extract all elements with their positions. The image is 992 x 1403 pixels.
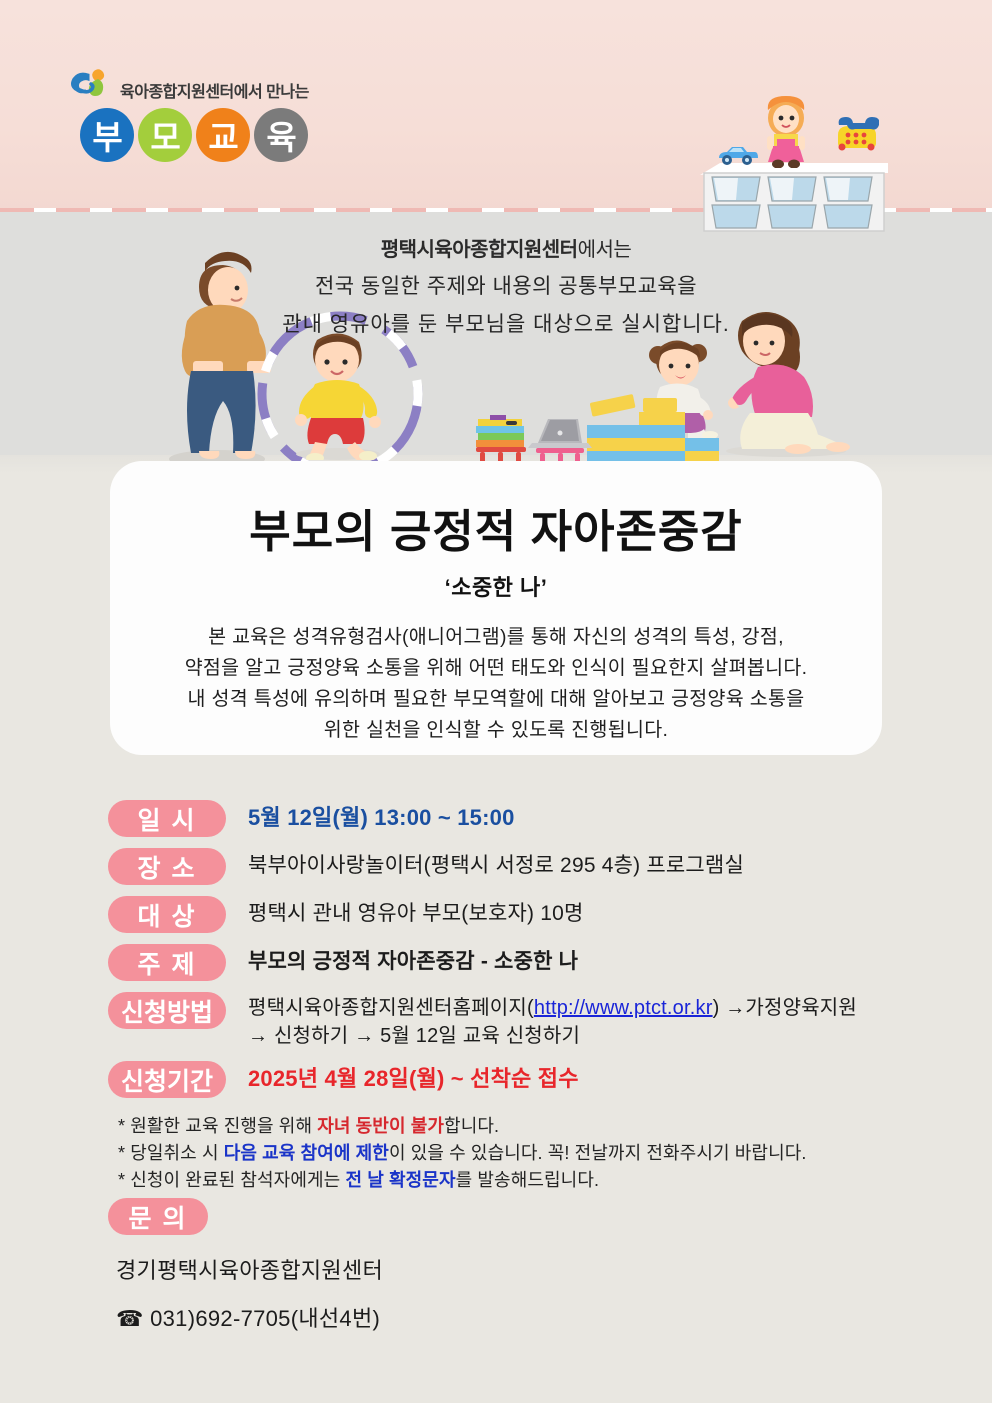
- homepage-link[interactable]: http://www.ptct.or.kr: [534, 997, 713, 1019]
- page-subtitle: ‘소중한 나’: [110, 570, 882, 602]
- intro-line-2: 전국 동일한 주제와 내용의 공통부모교육을: [246, 268, 766, 306]
- label-topic: 주 제: [108, 944, 226, 981]
- poster-root: 육아종합지원센터에서 만나는 부 모 교 육: [0, 0, 992, 1403]
- value-datetime: 5월 12일(월) 13:00 ~ 15:00: [226, 798, 515, 834]
- desc-line-2: 약점을 알고 긍정양육 소통을 위해 어떤 태도와 인식이 필요한지 살펴봅니다…: [134, 653, 858, 684]
- info-table: 일 시 5월 12일(월) 13:00 ~ 15:00 장 소 북부아이사랑놀이…: [108, 798, 988, 1107]
- note-1-post: 합니다.: [444, 1116, 499, 1136]
- label-target: 대 상: [108, 896, 226, 933]
- intro-center-name: 평택시육아종합지원센터: [381, 239, 578, 261]
- info-row-place: 장 소 북부아이사랑놀이터(평택시 서정로 295 4층) 프로그램실: [108, 846, 988, 885]
- logo-circle-bu: 부: [80, 108, 134, 162]
- note-item-3: * 신청이 완료된 참석자에게는 전 날 확정문자를 발송해드립니다.: [118, 1167, 958, 1194]
- note-1-pre: * 원활한 교육 진행을 위해: [118, 1116, 317, 1136]
- toy-car: [716, 142, 758, 171]
- logo-word-circles: 부 모 교 육: [80, 108, 309, 162]
- note-1-highlight: 자녀 동반이 불가: [317, 1116, 444, 1136]
- note-3-post: 를 발송해드립니다.: [456, 1170, 599, 1190]
- center-logo: 육아종합지원센터에서 만나는 부 모 교 육: [68, 66, 309, 162]
- sc-swirl-logo-icon: [68, 66, 116, 104]
- apply-method-prefix: 평택시육아종합지원센터홈페이지(: [248, 997, 534, 1019]
- note-3-highlight: 전 날 확정문자: [345, 1170, 455, 1190]
- laptop-icon: [528, 419, 592, 448]
- info-row-apply-method: 신청방법 평택시육아종합지원센터홈페이지(http://www.ptct.or.…: [108, 990, 988, 1050]
- note-2-pre: * 당일취소 시: [118, 1143, 224, 1163]
- doll-toy: [757, 96, 815, 173]
- toy-telephone: [833, 113, 879, 156]
- label-apply-method: 신청방법: [108, 992, 226, 1029]
- desc-line-3: 내 성격 특성에 유의하며 필요한 부모역할에 대해 알아보고 긍정양육 소통을: [134, 684, 858, 715]
- note-2-post: 이 있을 수 있습니다. 꼭! 전날까지 전화주시기 바랍니다.: [389, 1143, 807, 1163]
- desc-line-4: 위한 실천을 인식할 수 있도록 진행됩니다.: [134, 715, 858, 746]
- boy-figure: [275, 328, 401, 465]
- logo-circle-gyo: 교: [196, 108, 250, 162]
- label-datetime: 일 시: [108, 800, 226, 837]
- page-title: 부모의 긍정적 자아존중감: [110, 495, 882, 560]
- value-topic: 부모의 긍정적 자아존중감 - 소중한 나: [226, 942, 578, 978]
- intro-line-1-suffix: 에서는: [578, 239, 632, 261]
- info-row-datetime: 일 시 5월 12일(월) 13:00 ~ 15:00: [108, 798, 988, 837]
- note-2-highlight: 다음 교육 참여에 제한: [224, 1143, 389, 1163]
- book-stack-icon: [476, 415, 524, 447]
- desc-line-1: 본 교육은 성격유형검사(애니어그램)를 통해 자신의 성격의 특성, 강점,: [134, 622, 858, 653]
- note-item-1: * 원활한 교육 진행을 위해 자녀 동반이 불가합니다.: [118, 1113, 958, 1140]
- logo-tagline: 육아종합지원센터에서 만나는: [120, 78, 309, 104]
- contact-phone: ☎ 031)692-7705(내선4번): [116, 1301, 383, 1333]
- note-item-2: * 당일취소 시 다음 교육 참여에 제한이 있을 수 있습니다. 꼭! 전날까…: [118, 1140, 958, 1167]
- intro-line-1: 평택시육아종합지원센터에서는: [246, 232, 766, 268]
- apply-method-line-2: → 신청하기 → 5월 12일 교육 신청하기: [248, 1022, 857, 1050]
- logo-circle-yuk: 육: [254, 108, 308, 162]
- info-row-target: 대 상 평택시 관내 영유아 부모(보호자) 10명: [108, 894, 988, 933]
- program-description: 본 교육은 성격유형검사(애니어그램)를 통해 자신의 성격의 특성, 강점, …: [110, 622, 882, 746]
- program-card: 부모의 긍정적 자아존중감 ‘소중한 나’ 본 교육은 성격유형검사(애니어그램…: [110, 461, 882, 755]
- label-place: 장 소: [108, 848, 226, 885]
- logo-circle-mo: 모: [138, 108, 192, 162]
- contact-section: 문 의 경기평택시육아종합지원센터 ☎ 031)692-7705(내선4번): [108, 1196, 383, 1333]
- apply-method-line-1: 평택시육아종합지원센터홈페이지(http://www.ptct.or.kr) →…: [248, 994, 857, 1022]
- intro-text: 평택시육아종합지원센터에서는 전국 동일한 주제와 내용의 공통부모교육을 관내…: [246, 232, 766, 344]
- value-place: 북부아이사랑놀이터(평택시 서정로 295 4층) 프로그램실: [226, 846, 744, 882]
- value-apply-method: 평택시육아종합지원센터홈페이지(http://www.ptct.or.kr) →…: [226, 990, 857, 1050]
- note-3-pre: * 신청이 완료된 참석자에게는: [118, 1170, 345, 1190]
- info-row-topic: 주 제 부모의 긍정적 자아존중감 - 소중한 나: [108, 942, 988, 981]
- label-inquiry: 문 의: [108, 1198, 208, 1235]
- apply-method-suffix: ) →가정양육지원: [713, 997, 857, 1019]
- value-apply-period: 2025년 4월 28일(월) ~ 선착순 접수: [226, 1059, 579, 1095]
- info-row-apply-period: 신청기간 2025년 4월 28일(월) ~ 선착순 접수: [108, 1059, 988, 1098]
- intro-line-3: 관내 영유아를 둔 부모님을 대상으로 실시합니다.: [246, 306, 766, 344]
- notes-list: * 원활한 교육 진행을 위해 자녀 동반이 불가합니다. * 당일취소 시 다…: [118, 1113, 958, 1194]
- value-target: 평택시 관내 영유아 부모(보호자) 10명: [226, 894, 584, 930]
- contact-organization: 경기평택시육아종합지원센터: [116, 1253, 383, 1285]
- label-apply-period: 신청기간: [108, 1061, 226, 1098]
